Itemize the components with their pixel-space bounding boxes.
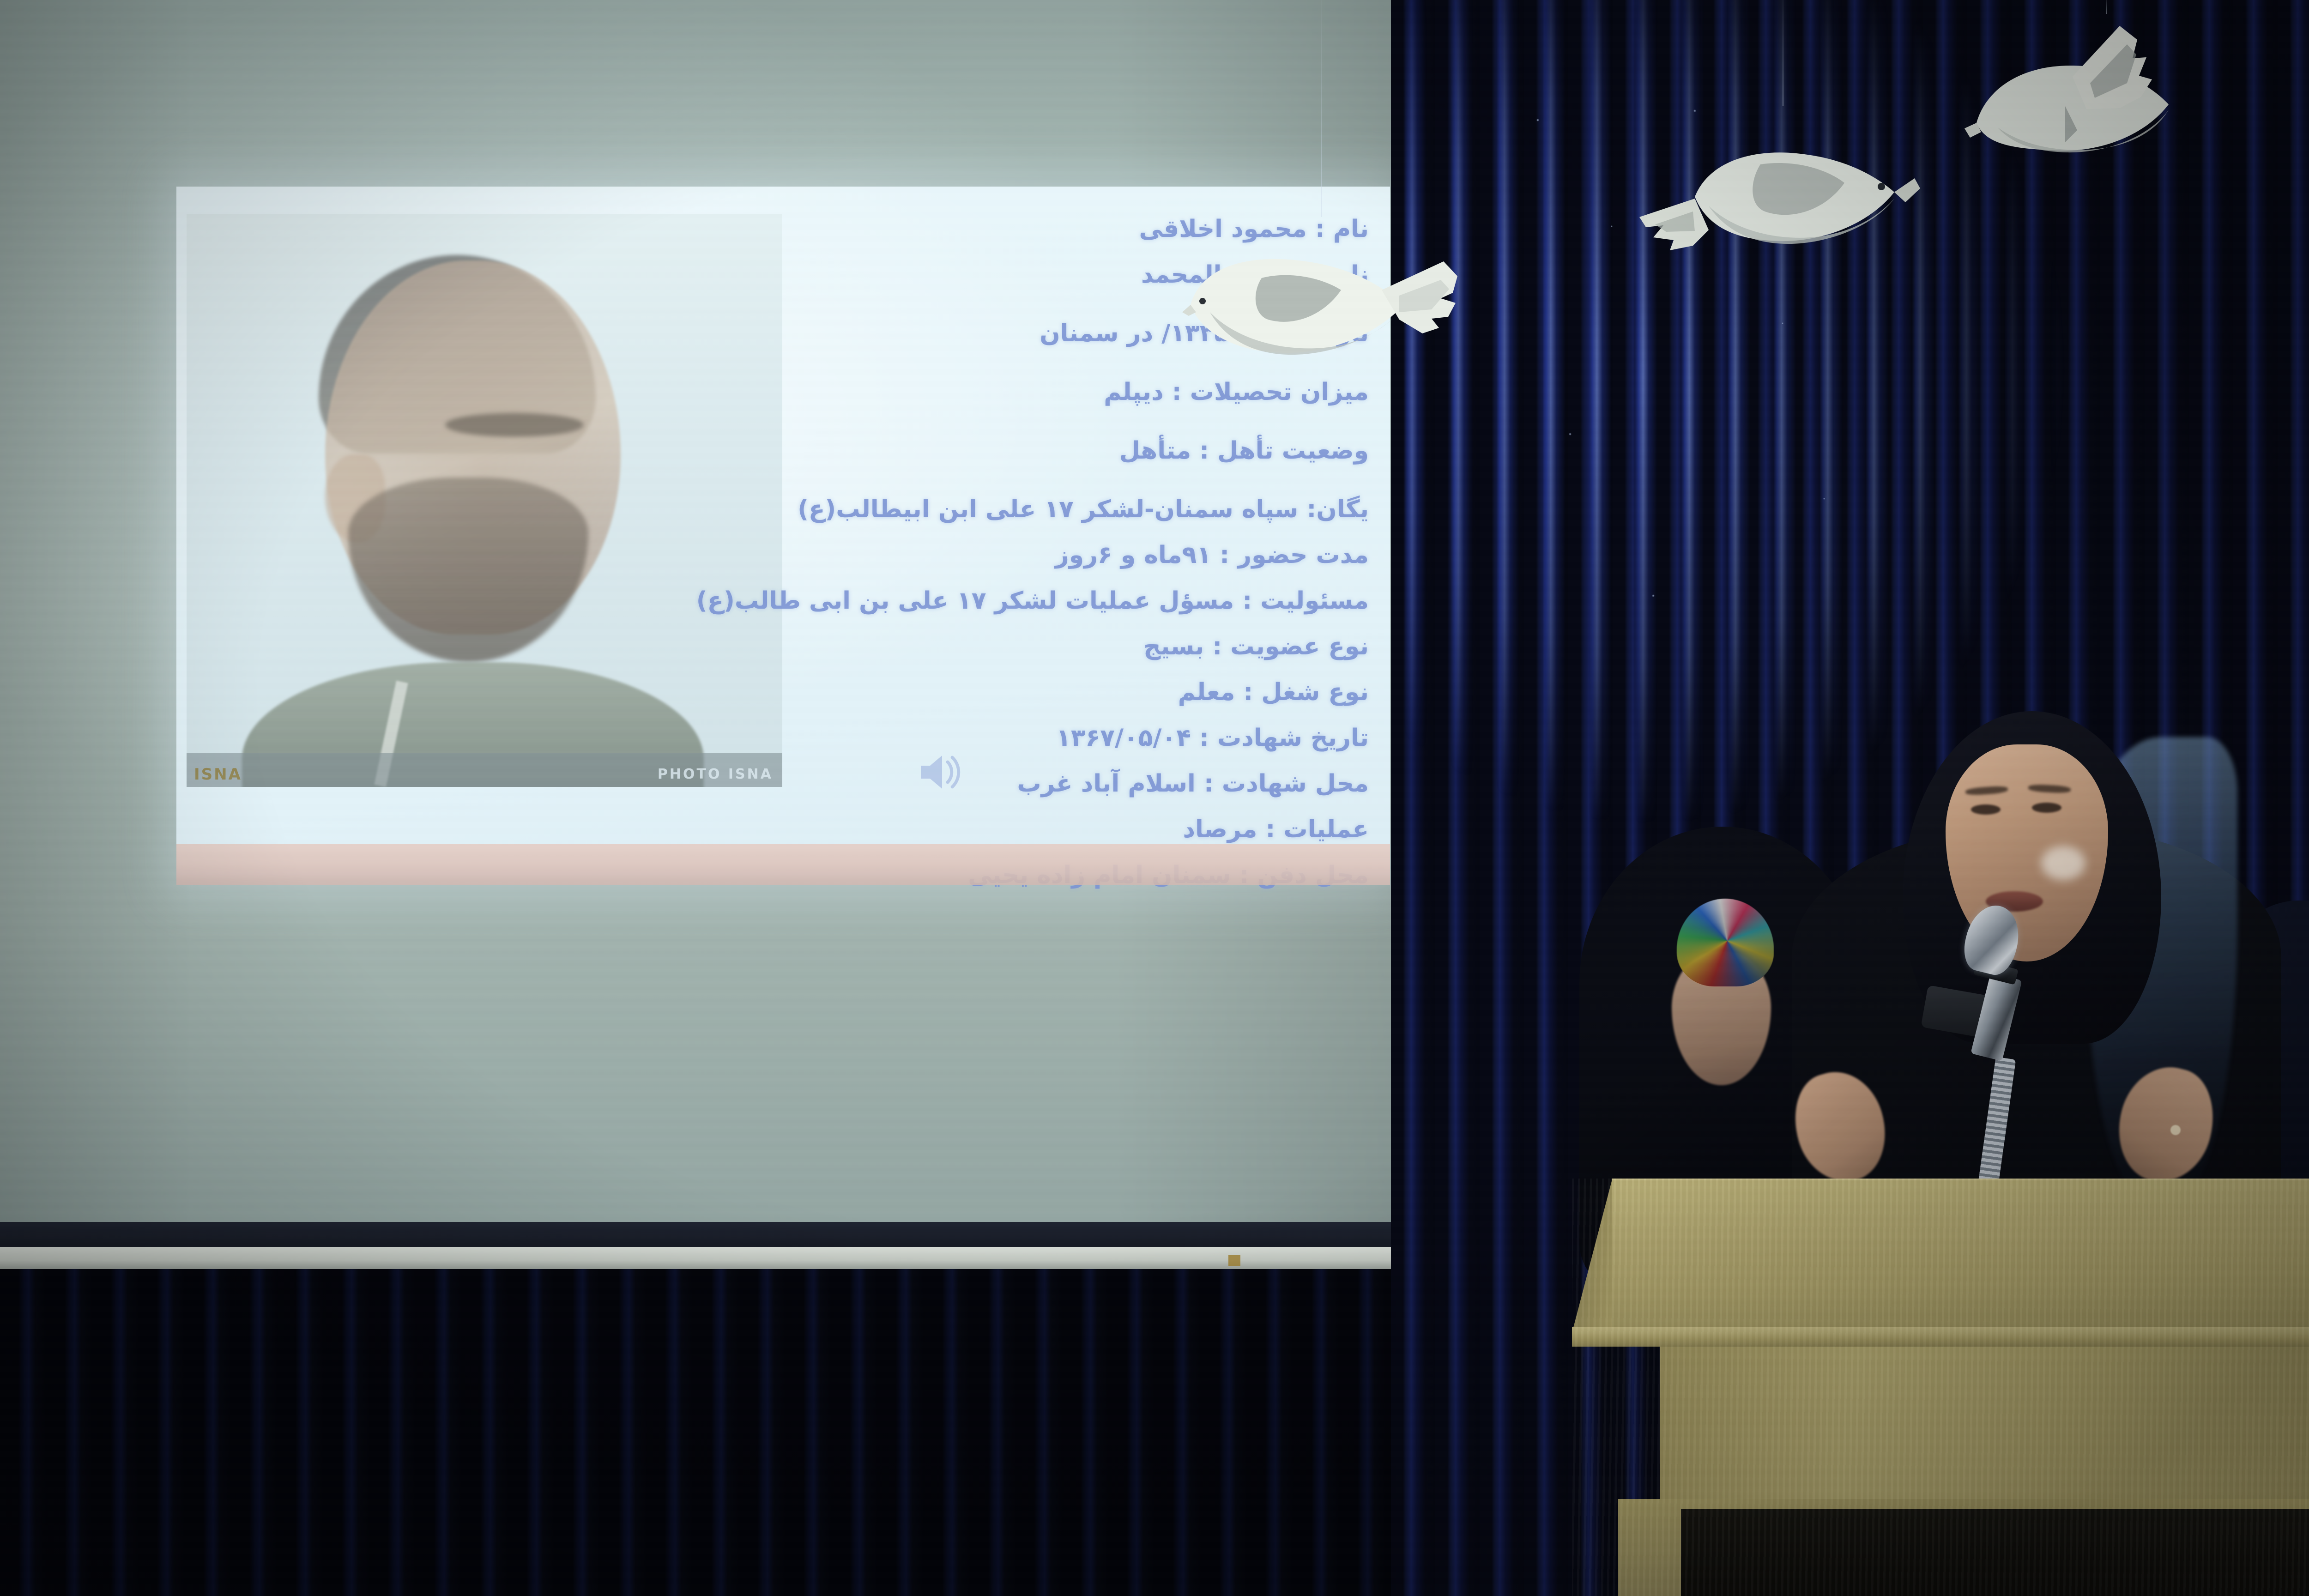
portrait-brow: [445, 413, 584, 437]
speaker-eye: [1971, 804, 2001, 815]
paper-dove-left: [1182, 217, 1459, 374]
wall-light-rail: [0, 1247, 1391, 1269]
lectern-front-panel: [1612, 1180, 2309, 1333]
paper-dove-center: [1639, 106, 1926, 259]
dove-string: [1321, 0, 1322, 217]
dove-string: [1783, 0, 1783, 106]
slide-line-occupation: نوع شغل : معلم: [685, 680, 1369, 705]
speaker-icon: [917, 751, 961, 793]
dove-shape: [1963, 14, 2249, 162]
lectern-base-shadow: [1681, 1509, 2309, 1596]
isna-watermark: ISNA: [194, 767, 242, 782]
speaker-ring: [2170, 1125, 2181, 1135]
slide-line-martyrdom-date: تاریخ شهادت : ۱۳۶۷/۰۵/۰۴: [685, 726, 1369, 750]
rail-tab-marker: [1228, 1255, 1240, 1266]
photograph-scene: ISNA PHOTO ISNA نام : محمود اخلاقی نام پ…: [0, 0, 2309, 1596]
slide-line-responsibility: مسئولیت : مسؤل عملیات لشکر ۱۷ علی بن ابی…: [685, 589, 1369, 613]
dove-shape: [1182, 217, 1459, 374]
slide-line-marital: وضعیت تأهل : متأهل: [685, 439, 1369, 463]
slide-line-martyrdom-place: محل شهادت : اسلام آباد غرب: [685, 772, 1369, 796]
lectern-lip: [1572, 1327, 2309, 1347]
slide-footer-band: [176, 844, 1390, 885]
dove-string: [2106, 0, 2107, 14]
lectern-surface-mark: [1715, 1423, 1744, 1456]
slide-line-duration: مدت حضور : ۹۱ماه و ۶روز: [685, 543, 1369, 568]
paper-dove-upper-right: [1963, 14, 2249, 162]
slide-line-membership: نوع عضویت : بسیج: [685, 635, 1369, 659]
wall-dark-band: [0, 1222, 1391, 1247]
dove-shape: [1639, 106, 1926, 259]
slide-line-unit: یگان: سپاه سمنان-لشکر ۱۷ علی ابن ابیطالب…: [685, 497, 1369, 522]
lower-curtain: [0, 1269, 1391, 1596]
lectern-column: [1660, 1347, 2309, 1499]
speaker-eye: [2032, 803, 2061, 813]
slide-line-operation: عملیات : مرصاد: [685, 817, 1369, 842]
speaker-face-highlight: [2041, 846, 2085, 880]
portrait-beard: [348, 478, 588, 662]
slide-line-education: میزان تحصیلات : دیپلم: [685, 380, 1369, 405]
